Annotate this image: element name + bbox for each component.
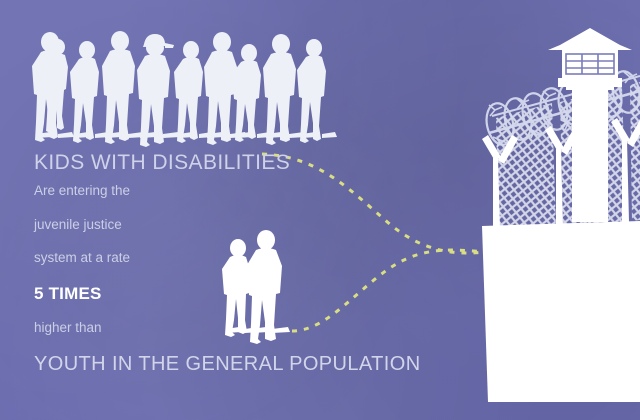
- guard-tower-shaft: [572, 87, 608, 222]
- connector-line: higher than: [34, 321, 454, 335]
- guard-tower-roof: [548, 28, 632, 50]
- perimeter-wall: [482, 221, 640, 402]
- headline: KIDS WITH DISABILITIES: [34, 152, 454, 173]
- body-line-2: juvenile justice: [34, 218, 454, 232]
- emphasis-multiplier: 5 TIMES: [34, 285, 454, 302]
- infographic-canvas: KIDS WITH DISABILITIES Are entering the …: [0, 0, 640, 420]
- body-line-1: Are entering the: [34, 184, 454, 198]
- message-block: KIDS WITH DISABILITIES Are entering the …: [34, 152, 454, 374]
- body-line-3: system at a rate: [34, 251, 454, 265]
- guard-tower-ledge: [566, 84, 614, 90]
- footline: YOUTH IN THE GENERAL POPULATION: [34, 354, 454, 374]
